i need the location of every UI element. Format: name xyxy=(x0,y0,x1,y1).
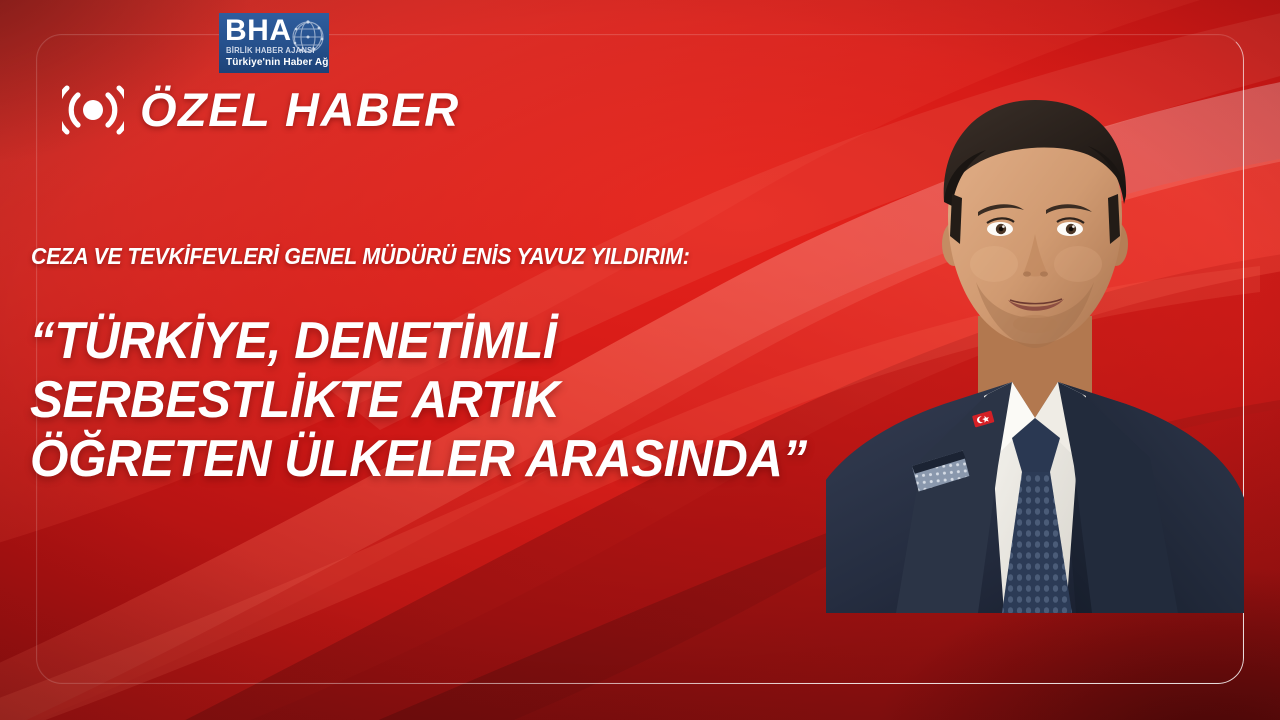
ozel-haber-label: ÖZEL HABER xyxy=(140,85,460,135)
headline-line-3: ÖĞRETEN ÜLKELER ARASINDA” xyxy=(30,430,807,489)
logo-subtitle-primary: BİRLİK HABER AJANSI xyxy=(226,46,315,55)
article-kicker: CEZA VE TEVKİFEVLERİ GENEL MÜDÜRÜ ENİS Y… xyxy=(31,243,690,270)
headline-line-1: “TÜRKİYE, DENETİMLİ xyxy=(30,312,807,371)
bha-logo[interactable]: BHA BİRLİK HABER AJANSI Türkiye'nin Habe… xyxy=(219,13,329,73)
article-headline: “TÜRKİYE, DENETİMLİ SERBESTLİKTE ARTIK Ö… xyxy=(30,312,807,489)
logo-tagline: Türkiye'nin Haber Ağı xyxy=(226,56,329,68)
headline-line-2: SERBESTLİKTE ARTIK xyxy=(30,371,807,430)
news-graphic-canvas: BHA BİRLİK HABER AJANSI Türkiye'nin Habe… xyxy=(0,0,1280,720)
ozel-haber-badge: ÖZEL HABER xyxy=(62,82,460,138)
speaker-portrait xyxy=(826,66,1244,613)
live-broadcast-icon xyxy=(62,82,124,138)
logo-wordmark: BHA xyxy=(225,16,292,46)
